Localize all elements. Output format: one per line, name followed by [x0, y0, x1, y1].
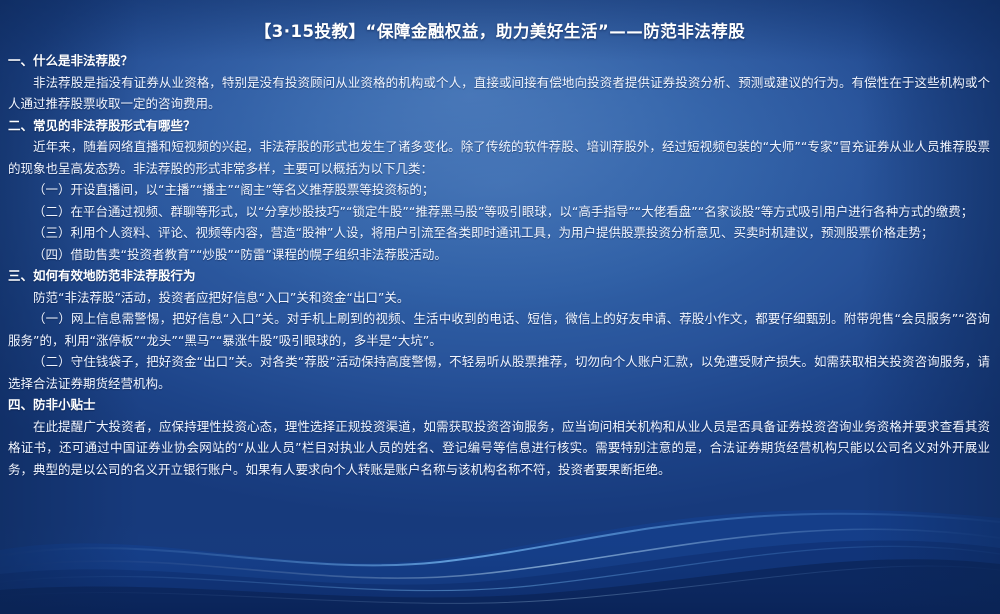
- wave-decoration: [0, 464, 1000, 614]
- poster-canvas: 【3·15投教】“保障金融权益，助力美好生活”——防范非法荐股 一、什么是非法荐…: [0, 0, 1000, 614]
- section-heading-2: 二、常见的非法荐股形式有哪些？: [8, 115, 990, 137]
- section-paragraph-3-1: 防范“非法荐股”活动，投资者应把好信息“入口”关和资金“出口”关。: [8, 287, 990, 309]
- section-paragraph-2-1: 近年来，随着网络直播和短视频的兴起，非法荐股的形式也发生了诸多变化。除了传统的软…: [8, 136, 990, 179]
- section-item-3-2: （二）守住钱袋子，把好资金“出口”关。对各类“荐股”活动保持高度警惕，不轻易听从…: [8, 351, 990, 394]
- section-item-2-2: （二）在平台通过视频、群聊等形式，以“分享炒股技巧”“锁定牛股”“推荐黑马股”等…: [8, 201, 990, 223]
- document-body: 一、什么是非法荐股？ 非法荐股是指没有证券从业资格，特别是没有投资顾问从业资格的…: [0, 50, 1000, 480]
- section-heading-1: 一、什么是非法荐股？: [8, 50, 990, 72]
- section-item-2-3: （三）利用个人资料、评论、视频等内容，营造“股神”人设，将用户引流至各类即时通讯…: [8, 222, 990, 244]
- section-heading-3: 三、如何有效地防范非法荐股行为: [8, 265, 990, 287]
- section-heading-4: 四、防非小贴士: [8, 394, 990, 416]
- document-content: 【3·15投教】“保障金融权益，助力美好生活”——防范非法荐股 一、什么是非法荐…: [0, 0, 1000, 480]
- section-paragraph-4-1: 在此提醒广大投资者，应保持理性投资心态，理性选择正规投资渠道，如需获取投资咨询服…: [8, 416, 990, 481]
- section-item-2-1: （一）开设直播间，以“主播”“播主”“阁主”等名义推荐股票等投资标的；: [8, 179, 990, 201]
- section-item-3-1: （一）网上信息需警惕，把好信息“入口”关。对手机上刷到的视频、生活中收到的电话、…: [8, 308, 990, 351]
- section-paragraph-1-1: 非法荐股是指没有证券从业资格，特别是没有投资顾问从业资格的机构或个人，直接或间接…: [8, 72, 990, 115]
- page-title: 【3·15投教】“保障金融权益，助力美好生活”——防范非法荐股: [0, 0, 1000, 50]
- section-item-2-4: （四）借助售卖“投资者教育”“炒股”“防雷”课程的幌子组织非法荐股活动。: [8, 244, 990, 266]
